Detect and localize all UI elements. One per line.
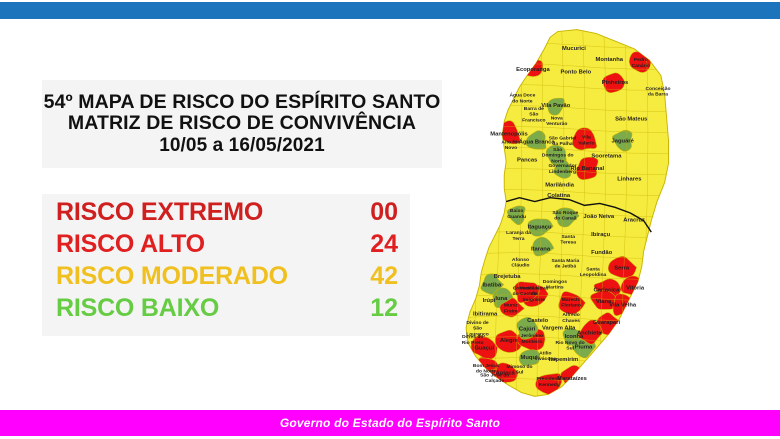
legend-label-moderado: RISCO MODERADO	[56, 262, 288, 291]
legend-row-extremo: RISCO EXTREMO 00	[42, 198, 410, 230]
title-panel: 54º MAPA DE RISCO DO ESPÍRITO SANTO MATR…	[42, 80, 442, 168]
title-line-2: MATRIZ DE RISCO DE CONVIVÊNCIA	[68, 113, 416, 135]
legend-row-baixo: RISCO BAIXO 12	[42, 294, 410, 326]
legend-label-baixo: RISCO BAIXO	[56, 294, 219, 323]
risk-legend: RISCO EXTREMO 00 RISCO ALTO 24 RISCO MOD…	[42, 194, 410, 336]
legend-count-baixo: 12	[346, 294, 398, 323]
risk-map-slide: 54º MAPA DE RISCO DO ESPÍRITO SANTO MATR…	[0, 0, 780, 439]
top-accent-bar	[0, 2, 780, 19]
title-line-3-period: 10/05 a 16/05/2021	[159, 135, 325, 156]
espirito-santo-risk-map: MucuriciMontanhaPonto BeloPedroCanárioPi…	[408, 22, 738, 404]
map-svg: MucuriciMontanhaPonto BeloPedroCanárioPi…	[408, 22, 738, 404]
map-municipality-shapes	[458, 22, 687, 404]
legend-count-extremo: 00	[346, 198, 398, 227]
municipality-alto	[613, 294, 637, 316]
legend-label-alto: RISCO ALTO	[56, 230, 205, 259]
title-line-1: 54º MAPA DE RISCO DO ESPÍRITO SANTO	[44, 92, 441, 114]
legend-row-moderado: RISCO MODERADO 42	[42, 262, 410, 294]
municipality-alto	[519, 58, 543, 77]
legend-count-alto: 24	[346, 230, 398, 259]
legend-row-alto: RISCO ALTO 24	[42, 230, 410, 262]
footer-bar: Governo do Estado do Espírito Santo	[0, 410, 780, 436]
footer-text: Governo do Estado do Espírito Santo	[280, 416, 500, 430]
legend-label-extremo: RISCO EXTREMO	[56, 198, 263, 227]
legend-count-moderado: 42	[346, 262, 398, 291]
